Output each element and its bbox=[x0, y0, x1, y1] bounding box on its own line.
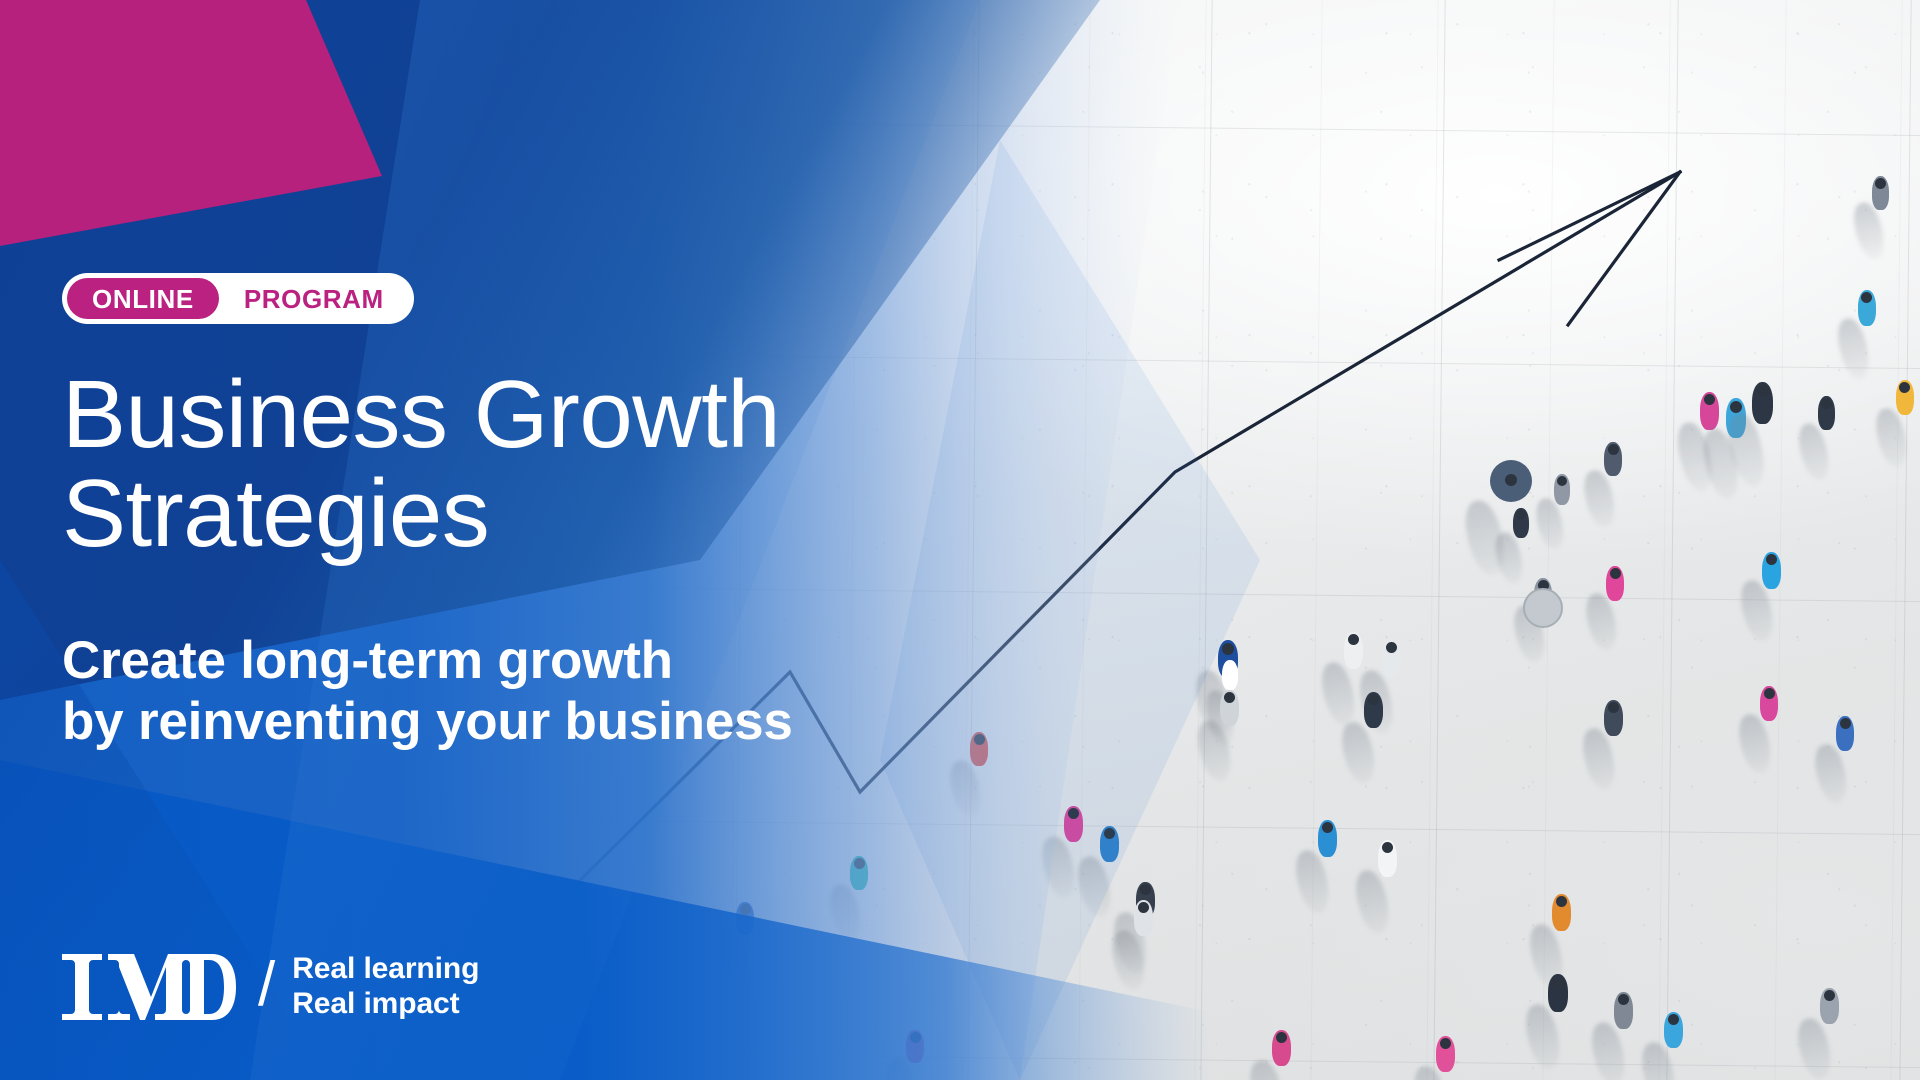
logo-slash-separator: / bbox=[258, 954, 275, 1016]
page-title: Business Growth Strategies bbox=[62, 365, 780, 564]
promo-banner: ONLINE PROGRAM Business Growth Strategie… bbox=[0, 0, 1920, 1080]
imd-wordmark bbox=[58, 948, 236, 1026]
program-type-badge[interactable]: ONLINE PROGRAM bbox=[62, 273, 414, 324]
banner-content: ONLINE PROGRAM Business Growth Strategie… bbox=[0, 0, 1100, 1080]
badge-program-label: PROGRAM bbox=[244, 286, 384, 312]
page-subtitle: Create long-term growth by reinventing y… bbox=[62, 630, 793, 753]
logo-tagline: Real learning Real impact bbox=[292, 952, 479, 1022]
imd-logo-lockup[interactable]: / Real learning Real impact bbox=[58, 948, 479, 1026]
badge-online-pill: ONLINE bbox=[67, 278, 219, 319]
